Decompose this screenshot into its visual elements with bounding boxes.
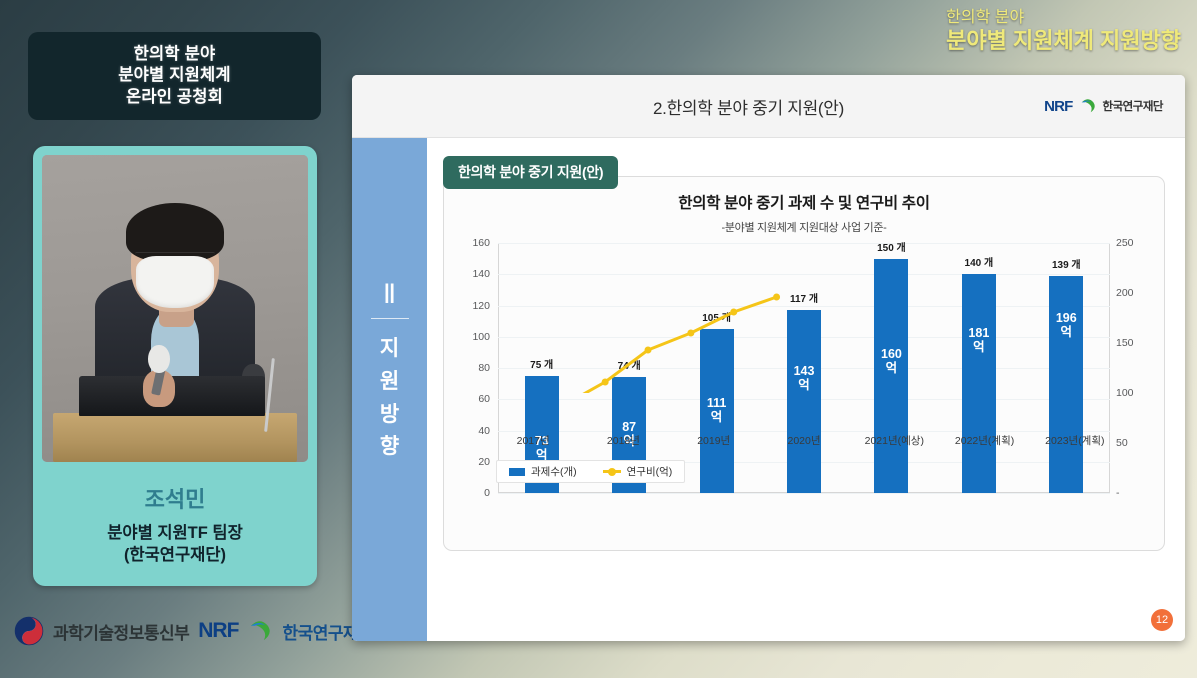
chart-plot-area: 020406080100120140160 -50100150200250 75… bbox=[454, 243, 1154, 493]
slide-nrf-logo-text: 한국연구재단 bbox=[1103, 98, 1163, 114]
broadcast-header: 한의학 분야 분야별 지원체계 지원방향 bbox=[946, 8, 1181, 54]
video-handheld-microphone bbox=[148, 345, 169, 373]
slide-header-logo: NRF 한국연구재단 bbox=[1044, 97, 1163, 115]
chart-bar-value-label: 150 개 bbox=[877, 239, 906, 254]
event-title-line-3: 온라인 공청회 bbox=[126, 87, 223, 108]
nrf-swoosh-icon bbox=[247, 618, 273, 644]
right-axis-tick: 250 bbox=[1116, 237, 1150, 249]
slide-nrf-swoosh-icon bbox=[1079, 97, 1097, 115]
chart-title: 한의학 분야 중기 과제 수 및 연구비 추이 bbox=[454, 191, 1154, 213]
event-title-line-2: 분야별 지원체계 bbox=[118, 65, 230, 86]
slide-section-label: 지 원 방 향 bbox=[380, 333, 399, 463]
chart-bar bbox=[874, 259, 908, 493]
left-axis-tick: 60 bbox=[456, 393, 490, 405]
chart-x-label: 2022년(계획) bbox=[955, 433, 1014, 448]
left-axis-tick: 160 bbox=[456, 237, 490, 249]
chart-x-label: 2023년(계획) bbox=[1045, 433, 1104, 448]
chart-bar-value-label: 140 개 bbox=[965, 254, 994, 269]
right-axis-tick: 200 bbox=[1116, 287, 1150, 299]
video-podium bbox=[53, 413, 298, 462]
presenter-card: 조석민 분야별 지원TF 팀장 (한국연구재단) bbox=[33, 146, 317, 586]
nrf-wordmark: NRF bbox=[198, 619, 238, 643]
presenter-name: 조석민 bbox=[145, 482, 206, 514]
event-title-line-1: 한의학 분야 bbox=[134, 44, 216, 65]
legend-bar-label: 과제수(개) bbox=[531, 464, 577, 479]
chart-line-marker bbox=[687, 330, 694, 337]
legend-line-label: 연구비(억) bbox=[627, 464, 673, 479]
slide-section-label-char-2: 원 bbox=[380, 366, 399, 399]
legend-bar-swatch-icon bbox=[509, 468, 525, 476]
left-axis-tick: 20 bbox=[456, 456, 490, 468]
legend-line-swatch-icon bbox=[603, 470, 621, 473]
video-speaker-face-mask bbox=[136, 256, 213, 308]
footer-logos: 과학기술정보통신부 NRF 한국연구재단 bbox=[14, 616, 373, 646]
slide-nrf-wordmark: NRF bbox=[1044, 98, 1072, 115]
chart-subtitle: -분야별 지원체계 지원대상 사업 기준- bbox=[454, 219, 1154, 235]
slide-page-number-badge: 12 bbox=[1151, 609, 1173, 631]
slide-section-label-char-4: 향 bbox=[380, 431, 399, 464]
slide-header-title: 2.한의학 분야 중기 지원(안) bbox=[653, 94, 844, 119]
chart-x-label: 2017년 bbox=[517, 433, 550, 448]
legend-item-bar: 과제수(개) bbox=[509, 464, 577, 479]
chart-x-label: 2021년(예상) bbox=[865, 433, 924, 448]
chart-bar bbox=[962, 274, 996, 493]
event-title-card: 한의학 분야 분야별 지원체계 온라인 공청회 bbox=[28, 32, 321, 120]
slide-panel: 2.한의학 분야 중기 지원(안) NRF 한국연구재단 Ⅱ 지 원 방 향 bbox=[352, 75, 1185, 641]
slide-content: 한의학 분야 중기 지원(안) 한의학 분야 중기 과제 수 및 연구비 추이 … bbox=[427, 138, 1185, 641]
chart-line-value-label: 181억 bbox=[968, 326, 989, 354]
legend-item-line: 연구비(억) bbox=[603, 464, 673, 479]
gridline bbox=[498, 493, 1110, 494]
slide-body: Ⅱ 지 원 방 향 한의학 분야 중기 지원(안) 한의학 분야 중기 과제 수… bbox=[352, 138, 1185, 641]
slide-section-tab: Ⅱ 지 원 방 향 bbox=[352, 138, 427, 641]
left-axis-tick: 0 bbox=[456, 487, 490, 499]
chart-line-marker bbox=[730, 309, 737, 316]
section-heading-badge: 한의학 분야 중기 지원(안) bbox=[443, 156, 618, 189]
broadcast-header-sub: 한의학 분야 bbox=[946, 8, 1181, 28]
chart-line-path bbox=[519, 297, 776, 393]
chart-bar bbox=[1049, 276, 1083, 493]
chart-x-label: 2019년 bbox=[697, 433, 730, 448]
left-axis-tick: 80 bbox=[456, 362, 490, 374]
left-axis-tick: 140 bbox=[456, 268, 490, 280]
chart-x-axis-labels: 2017년2018년2019년2020년2021년(예상)2022년(계획)20… bbox=[488, 429, 1120, 455]
right-axis-tick: 100 bbox=[1116, 387, 1150, 399]
chart-card: 한의학 분야 중기 과제 수 및 연구비 추이 -분야별 지원체계 지원대상 사… bbox=[443, 176, 1165, 551]
right-axis-tick: - bbox=[1116, 487, 1150, 499]
slide-section-numeral: Ⅱ bbox=[371, 279, 409, 319]
left-axis-tick: 40 bbox=[456, 425, 490, 437]
left-axis-tick: 120 bbox=[456, 300, 490, 312]
chart-x-label: 2018년 bbox=[607, 433, 640, 448]
chart-bar-value-label: 139 개 bbox=[1052, 256, 1081, 271]
chart-x-label: 2020년 bbox=[787, 433, 820, 448]
chart-line-value-label: 160억 bbox=[881, 347, 902, 375]
presenter-role-line-1: 분야별 지원TF 팀장 bbox=[107, 523, 243, 545]
slide-section-label-char-1: 지 bbox=[380, 333, 399, 366]
chart-line-series bbox=[498, 243, 798, 393]
chart-line-value-label: 196억 bbox=[1056, 311, 1077, 339]
slide-section-label-char-3: 방 bbox=[380, 399, 399, 432]
left-axis-tick: 100 bbox=[456, 331, 490, 343]
ministry-logo-text: 과학기술정보통신부 bbox=[53, 619, 189, 644]
right-axis-tick: 150 bbox=[1116, 337, 1150, 349]
chart-legend: 과제수(개) 연구비(억) bbox=[496, 460, 685, 483]
slide-header: 2.한의학 분야 중기 지원(안) NRF 한국연구재단 bbox=[352, 75, 1185, 138]
presenter-video-feed[interactable] bbox=[42, 155, 308, 462]
chart-line-value-label: 111억 bbox=[707, 396, 726, 424]
presentation-stage: 한의학 분야 분야별 지원체계 온라인 공청회 조석민 분야별 지원TF 팀장 … bbox=[0, 0, 1197, 678]
presenter-role-line-2: (한국연구재단) bbox=[107, 545, 243, 567]
right-axis-tick: 50 bbox=[1116, 437, 1150, 449]
chart-line-marker bbox=[773, 294, 780, 301]
chart-line-marker bbox=[645, 347, 652, 354]
chart-line-marker bbox=[602, 379, 609, 386]
presenter-role: 분야별 지원TF 팀장 (한국연구재단) bbox=[107, 523, 243, 567]
broadcast-header-main: 분야별 지원체계 지원방향 bbox=[946, 28, 1181, 54]
taegeuk-icon bbox=[14, 616, 44, 646]
